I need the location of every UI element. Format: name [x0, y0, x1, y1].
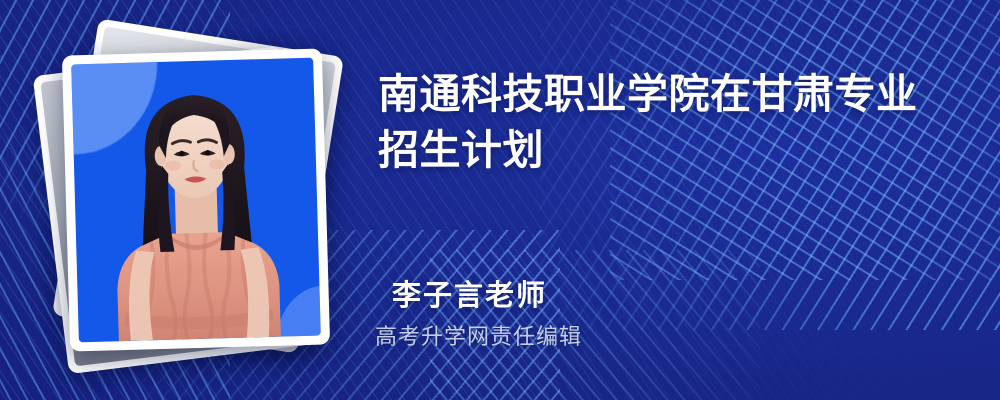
photo-card-stack	[52, 34, 352, 364]
headline-title: 南通科技职业学院在甘肃专业招生计划	[378, 66, 950, 178]
text-block: 南通科技职业学院在甘肃专业招生计划 李子言老师 高考升学网责任编辑	[372, 0, 972, 400]
photo-card-front	[62, 48, 330, 351]
author-name: 李子言老师	[392, 272, 547, 314]
portrait-illustration-icon	[71, 58, 321, 343]
author-photo	[71, 58, 321, 343]
author-role: 高考升学网责任编辑	[375, 319, 582, 351]
promo-banner: 南通科技职业学院在甘肃专业招生计划 李子言老师 高考升学网责任编辑	[0, 0, 1000, 400]
